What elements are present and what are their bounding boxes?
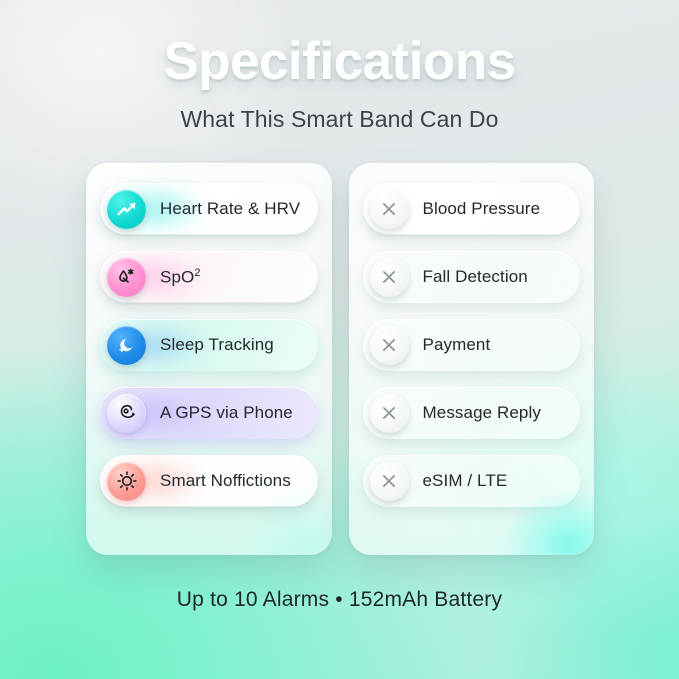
specifications-poster: Specifications What This Smart Band Can … xyxy=(0,0,679,679)
feature-row-smart-notifications[interactable]: Smart Noffictions xyxy=(100,455,318,507)
feature-row-heart-rate[interactable]: Heart Rate & HRV xyxy=(100,183,318,235)
feature-label: Heart Rate & HRV xyxy=(160,199,300,219)
feature-label: Fall Detection xyxy=(423,267,528,287)
feature-label: eSIM / LTE xyxy=(423,471,508,491)
feature-label: A GPS via Phone xyxy=(160,403,293,423)
feature-row-blood-pressure[interactable]: Blood Pressure xyxy=(363,183,581,235)
close-x-icon xyxy=(370,462,409,501)
feature-row-payment[interactable]: Payment xyxy=(363,319,581,371)
feature-label: Message Reply xyxy=(423,403,541,423)
unsupported-features-card: Blood Pressure Fall Detection Payment xyxy=(349,163,595,555)
close-x-icon xyxy=(370,394,409,433)
close-x-icon xyxy=(370,258,409,297)
feature-label: Smart Noffictions xyxy=(160,471,291,491)
feature-label: SpO2 xyxy=(160,267,201,288)
feature-cards: Heart Rate & HRV SpO2 xyxy=(86,163,594,555)
feature-row-spo2[interactable]: SpO2 xyxy=(100,251,318,303)
moon-icon xyxy=(107,326,146,365)
feature-row-gps[interactable]: A GPS via Phone xyxy=(100,387,318,439)
page-subtitle: What This Smart Band Can Do xyxy=(0,106,679,133)
page-title: Specifications xyxy=(0,34,679,90)
header: Specifications What This Smart Band Can … xyxy=(0,34,679,133)
gps-swirl-icon xyxy=(107,394,146,433)
close-x-icon xyxy=(370,326,409,365)
close-x-icon xyxy=(370,190,409,229)
feature-row-fall-detection[interactable]: Fall Detection xyxy=(363,251,581,303)
trending-up-icon xyxy=(107,190,146,229)
feature-row-sleep-tracking[interactable]: Sleep Tracking xyxy=(100,319,318,371)
notification-sun-icon xyxy=(107,462,146,501)
feature-label: Blood Pressure xyxy=(423,199,541,219)
feature-row-esim-lte[interactable]: eSIM / LTE xyxy=(363,455,581,507)
supported-features-card: Heart Rate & HRV SpO2 xyxy=(86,163,332,555)
blood-oxygen-icon xyxy=(107,258,146,297)
feature-label-superscript: 2 xyxy=(194,267,200,279)
feature-label: Sleep Tracking xyxy=(160,335,274,355)
feature-label-text: SpO xyxy=(160,267,194,286)
feature-row-message-reply[interactable]: Message Reply xyxy=(363,387,581,439)
feature-label: Payment xyxy=(423,335,491,355)
footer-specs: Up to 10 Alarms • 152mAh Battery xyxy=(0,588,679,612)
